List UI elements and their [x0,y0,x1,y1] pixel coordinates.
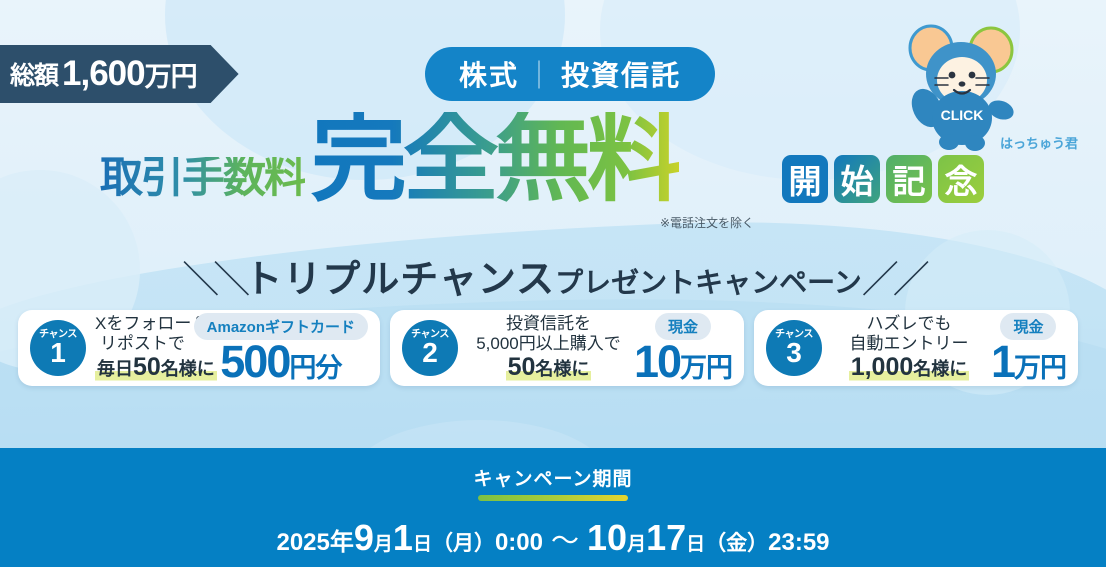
prize-unit: 万円 [680,353,732,383]
chance-card-condition: Xをフォロー＆ リポストで 毎日50名様に [95,314,190,382]
headline-note: ※電話注文を除く [660,214,754,231]
chance-badge-1: チャンス 1 [30,320,86,376]
title-underline [478,495,628,501]
subtitle-sub: プレゼントキャンペーン [555,267,862,298]
day-label: 日 [413,534,432,555]
tile-shi: 始 [834,155,880,203]
prize-amount: 1万円 [991,341,1066,384]
winners-suffix: 名様に [913,359,967,379]
chance-card-condition: 投資信託を 5,000円以上購入で 50名様に [467,314,630,382]
subtitle: ＼＼トリプルチャンスプレゼントキャンペーン／／ [0,248,1106,303]
winners-count: 1,000 [851,353,914,381]
condition-line-2: リポストで [95,334,190,354]
chance-card-condition: ハズレでも 自動エントリー 1,000名様に [831,314,987,382]
campaign-period-dates: 2025年9月1日（月）0:00〜10月17日（金）23:59 [276,517,829,559]
end-month-label: 月 [627,534,646,555]
chance-card-body: ハズレでも 自動エントリー 1,000名様に 現金 1万円 [831,313,1066,384]
campaign-banner: 総額 1,600 万円 株式｜投資信託 取引手数料 完全無料 ※電話注文を除く … [0,0,1106,567]
end-weekday: （金） [705,532,768,555]
subtitle-main: トリプルチャンス [244,259,555,301]
condition-line-2: 5,000円以上購入で [467,334,630,354]
tile-kai: 開 [782,155,828,203]
end-day: 17 [646,517,686,558]
prize-number: 10 [634,336,680,387]
chance-card-body: 投資信託を 5,000円以上購入で 50名様に 現金 10万円 [467,313,732,384]
total-amount-ribbon: 総額 1,600 万円 [0,45,239,103]
chance-card-3[interactable]: チャンス 3 ハズレでも 自動エントリー 1,000名様に 現金 1万円 [754,310,1078,386]
headline: 取引手数料 完全無料 [100,112,679,208]
ribbon-unit: 万円 [145,55,197,94]
start-day: 1 [393,517,413,558]
campaign-period-title: キャンペーン期間 [473,464,632,491]
date-range-tilde: 〜 [551,525,579,556]
campaign-period-footer: キャンペーン期間 2025年9月1日（月）0:00〜10月17日（金）23:59 [0,448,1106,567]
tile-ki: 記 [886,155,932,203]
ribbon-amount: 1,600 [62,54,145,94]
chance-badge-number: 1 [50,339,66,367]
end-month: 10 [587,517,627,558]
commemorate-tiles: 開 始 記 念 [782,155,984,203]
winners-count: 50 [133,353,161,381]
start-time: 0:00 [495,529,543,556]
chance-badge-2: チャンス 2 [402,320,458,376]
end-time: 23:59 [768,529,829,556]
end-day-label: 日 [686,534,705,555]
month-label: 月 [374,534,393,555]
winners-suffix: 名様に [535,359,589,379]
chance-card-1[interactable]: チャンス 1 Xをフォロー＆ リポストで 毎日50名様に Amazonギフトカー… [18,310,380,386]
condition-line-3: 50名様に [506,353,592,382]
chance-badge-number: 3 [786,339,802,367]
prize-unit: 万円 [1014,353,1066,383]
condition-line-2: 自動エントリー [831,334,987,354]
chance-card-prize: 現金 1万円 [991,313,1066,384]
winners-count: 50 [508,353,536,381]
category-divider: ｜ [525,60,555,91]
category-pill: 株式｜投資信託 [425,47,715,101]
subtitle-slash-left: ＼＼ [182,259,244,300]
subtitle-slash-right: ／／ [862,259,924,300]
condition-line-1: 投資信託を [467,314,630,334]
chance-card-2[interactable]: チャンス 2 投資信託を 5,000円以上購入で 50名様に 現金 10万円 [390,310,744,386]
condition-line-1: Xをフォロー＆ [95,314,190,334]
prize-amount: 10万円 [634,341,732,384]
winners-prefix: 毎日 [97,359,133,379]
chance-card-body: Xをフォロー＆ リポストで 毎日50名様に Amazonギフトカード 500円分 [95,313,368,384]
prize-number: 1 [991,336,1014,387]
chance-badge-number: 2 [422,339,438,367]
headline-small: 取引手数料 [100,157,305,208]
mascot-body-text: CLICK [941,107,984,123]
category-stock: 株式 [459,60,519,91]
condition-line-3: 1,000名様に [849,353,970,382]
category-fund: 投資信託 [561,60,681,91]
mascot-name-label: はっちゅう君 [1000,133,1078,152]
start-weekday: （月） [432,532,495,555]
prize-unit: 円分 [289,353,341,383]
chance-card-prize: Amazonギフトカード 500円分 [194,313,368,384]
condition-line-1: ハズレでも [831,314,987,334]
tile-nen: 念 [938,155,984,203]
chance-badge-3: チャンス 3 [766,320,822,376]
headline-big: 完全無料 [311,112,679,208]
prize-number: 500 [220,336,289,387]
date-year: 2025年 [276,529,353,556]
chance-card-prize: 現金 10万円 [634,313,732,384]
ribbon-prefix: 総額 [10,56,58,92]
chance-cards: チャンス 1 Xをフォロー＆ リポストで 毎日50名様に Amazonギフトカー… [18,310,1088,386]
start-month: 9 [354,517,374,558]
prize-amount: 500円分 [194,341,368,384]
